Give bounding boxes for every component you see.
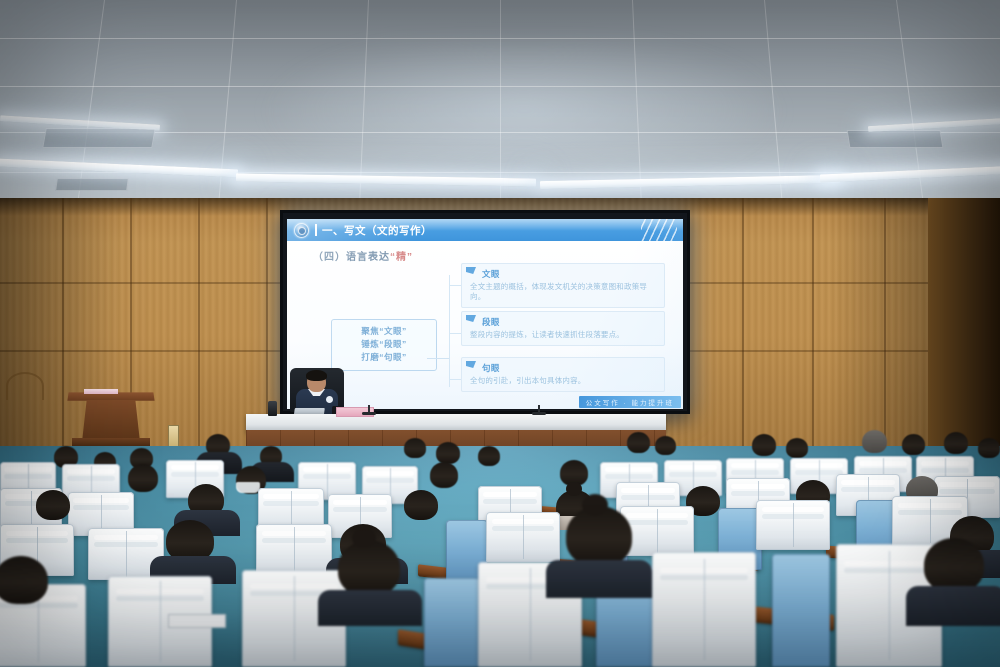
microphone-base — [532, 412, 546, 415]
ceiling-vent — [55, 178, 129, 191]
seat[interactable] — [772, 554, 830, 667]
slide-card: 段眼 整段内容的提炼，让读者快速抓住段落要点。 — [461, 311, 665, 346]
audience-head — [404, 490, 438, 520]
flag-marker-icon — [466, 315, 476, 322]
microphone-base — [362, 412, 376, 415]
seat[interactable] — [424, 578, 480, 667]
audience-head — [128, 464, 158, 492]
left-box-line: 聚焦“文眼” — [336, 325, 432, 338]
connector-line — [427, 358, 449, 359]
card-body: 整段内容的提炼，让读者快速抓住段落要点。 — [470, 330, 658, 340]
wall-sconce — [6, 372, 44, 400]
audience-head — [978, 438, 1000, 458]
audience-head — [944, 432, 968, 454]
audience-shoulders — [906, 586, 1000, 626]
slide-card: 句眼 全句的引赴，引出本句具体内容。 — [461, 357, 665, 392]
conference-hall-photo: 一、写文（文的写作） （四）语言表达“精” 聚焦“文眼” 锤炼“段眼” 打磨“句… — [0, 0, 1000, 667]
floor-sign — [168, 425, 179, 447]
connector-branch — [449, 333, 461, 334]
card-body: 全文主题的概括，体现发文机关的决策意图和政策导向。 — [470, 282, 658, 302]
wall-column — [928, 198, 1000, 448]
audience-head — [862, 430, 887, 453]
water-bottle — [268, 401, 277, 416]
presenter-shoulder-badge — [326, 396, 333, 403]
slide-subtitle-quoted: “精” — [390, 252, 413, 263]
ceiling-vent — [847, 130, 944, 148]
card-heading: 文眼 — [482, 268, 658, 280]
seat[interactable] — [756, 500, 830, 550]
audience-head — [902, 434, 925, 455]
seat[interactable] — [256, 524, 332, 576]
lectern-body — [82, 400, 140, 442]
audience-head — [338, 540, 400, 596]
card-body: 全句的引赴，引出本句具体内容。 — [470, 376, 658, 386]
connector-branch — [449, 285, 461, 286]
slide-watermark: 公文写作 · 能力提升班 — [579, 396, 681, 408]
left-box-line: 锤炼“段眼” — [336, 338, 432, 351]
seat-number-tag — [168, 614, 226, 628]
slide-subtitle: （四）语言表达“精” — [313, 248, 413, 263]
seat[interactable] — [486, 512, 560, 562]
presenter-hair — [306, 370, 327, 381]
flag-marker-icon — [466, 361, 476, 368]
audience-head — [786, 438, 808, 458]
card-heading: 句眼 — [482, 362, 658, 374]
audience-head — [430, 462, 458, 488]
face-mask — [236, 482, 260, 493]
lectern-papers — [84, 389, 118, 394]
ceiling-vent — [42, 128, 156, 148]
card-heading: 段眼 — [482, 316, 658, 328]
hair-bun — [582, 494, 608, 516]
connector-spine — [449, 275, 450, 387]
audience-shoulders — [546, 560, 652, 598]
slide-card: 文眼 全文主题的概括，体现发文机关的决策意图和政策导向。 — [461, 263, 665, 308]
audience-head — [36, 490, 70, 520]
hair-bun — [566, 482, 582, 496]
slide-subtitle-prefix: （四）语言表达 — [313, 252, 390, 263]
screen-glare — [287, 219, 683, 231]
slide-left-summary-box: 聚焦“文眼” 锤炼“段眼” 打磨“句眼” — [331, 319, 437, 371]
audience-head — [404, 438, 426, 458]
lectern-base — [72, 438, 150, 446]
left-box-line: 打磨“句眼” — [336, 351, 432, 364]
audience-head — [478, 446, 500, 466]
audience-head — [655, 436, 676, 455]
audience-head — [924, 538, 984, 592]
seat[interactable] — [652, 552, 756, 667]
audience-head — [752, 434, 776, 456]
flag-marker-icon — [466, 267, 476, 274]
audience-shoulders — [318, 590, 422, 626]
connector-branch — [449, 379, 461, 380]
hair-bun — [352, 528, 376, 548]
audience-head — [0, 556, 48, 604]
audience-head — [436, 442, 460, 464]
audience-head — [627, 432, 650, 453]
